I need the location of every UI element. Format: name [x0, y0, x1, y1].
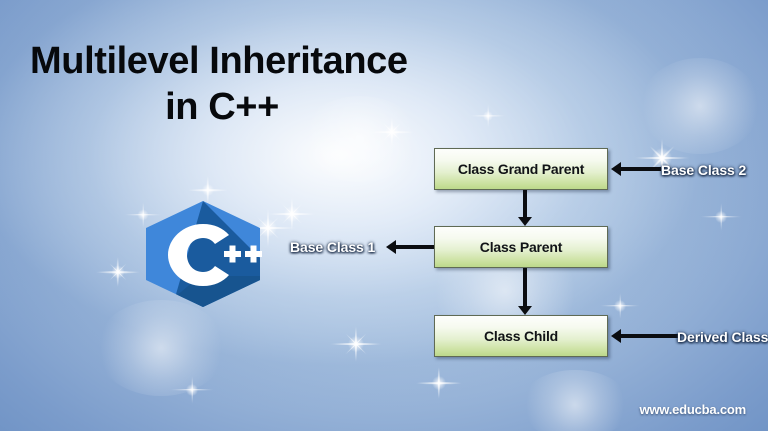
arrow-head-left: [611, 329, 621, 343]
arrow-shaft: [621, 167, 661, 171]
class-box-child-label: Class Child: [484, 328, 558, 344]
arrow-head-down: [518, 306, 532, 315]
sparkle-star-6: [330, 318, 382, 370]
sparkle-star-10: [700, 196, 742, 238]
sparkle-star-13: [170, 368, 214, 412]
sparkle-star-12: [470, 98, 506, 134]
arrow-head-left: [611, 162, 621, 176]
connector-arrow-parent-to-child: [518, 268, 532, 315]
callout-arrow-base-class-2: [611, 162, 661, 176]
sparkle-star-3: [268, 190, 316, 238]
connector-arrow-grandparent-to-parent: [518, 190, 532, 226]
cpp-logo-icon: [142, 200, 264, 308]
background-glow-5: [520, 370, 630, 431]
footer-website-url: www.educba.com: [639, 402, 746, 417]
sparkle-star-7: [416, 360, 462, 406]
class-box-parent-label: Class Parent: [480, 239, 562, 255]
arrow-shaft: [523, 190, 527, 217]
slide-canvas: Multilevel Inheritance in C++: [0, 0, 768, 431]
class-box-parent[interactable]: Class Parent: [434, 226, 608, 268]
background-glow-4: [96, 300, 226, 396]
arrow-head-left: [386, 240, 396, 254]
sparkle-star-5: [96, 250, 140, 294]
title-line-1: Multilevel Inheritance: [26, 38, 466, 84]
class-box-child[interactable]: Class Child: [434, 315, 608, 357]
title-line-2: in C++: [26, 84, 466, 130]
arrow-shaft: [523, 268, 527, 306]
arrow-shaft: [621, 334, 679, 338]
callout-label-base-class-1: Base Class 1: [290, 239, 375, 255]
arrow-head-down: [518, 217, 532, 226]
class-box-grandparent-label: Class Grand Parent: [458, 161, 584, 177]
page-title: Multilevel Inheritance in C++: [26, 38, 466, 131]
arrow-shaft: [396, 245, 434, 249]
callout-arrow-derived-class: [611, 329, 679, 343]
callout-label-derived-class: Derived Class: [677, 329, 768, 345]
background-glow-3: [640, 58, 760, 154]
class-box-grandparent[interactable]: Class Grand Parent: [434, 148, 608, 190]
callout-arrow-base-class-1: [386, 240, 434, 254]
callout-label-base-class-2: Base Class 2: [661, 162, 746, 178]
